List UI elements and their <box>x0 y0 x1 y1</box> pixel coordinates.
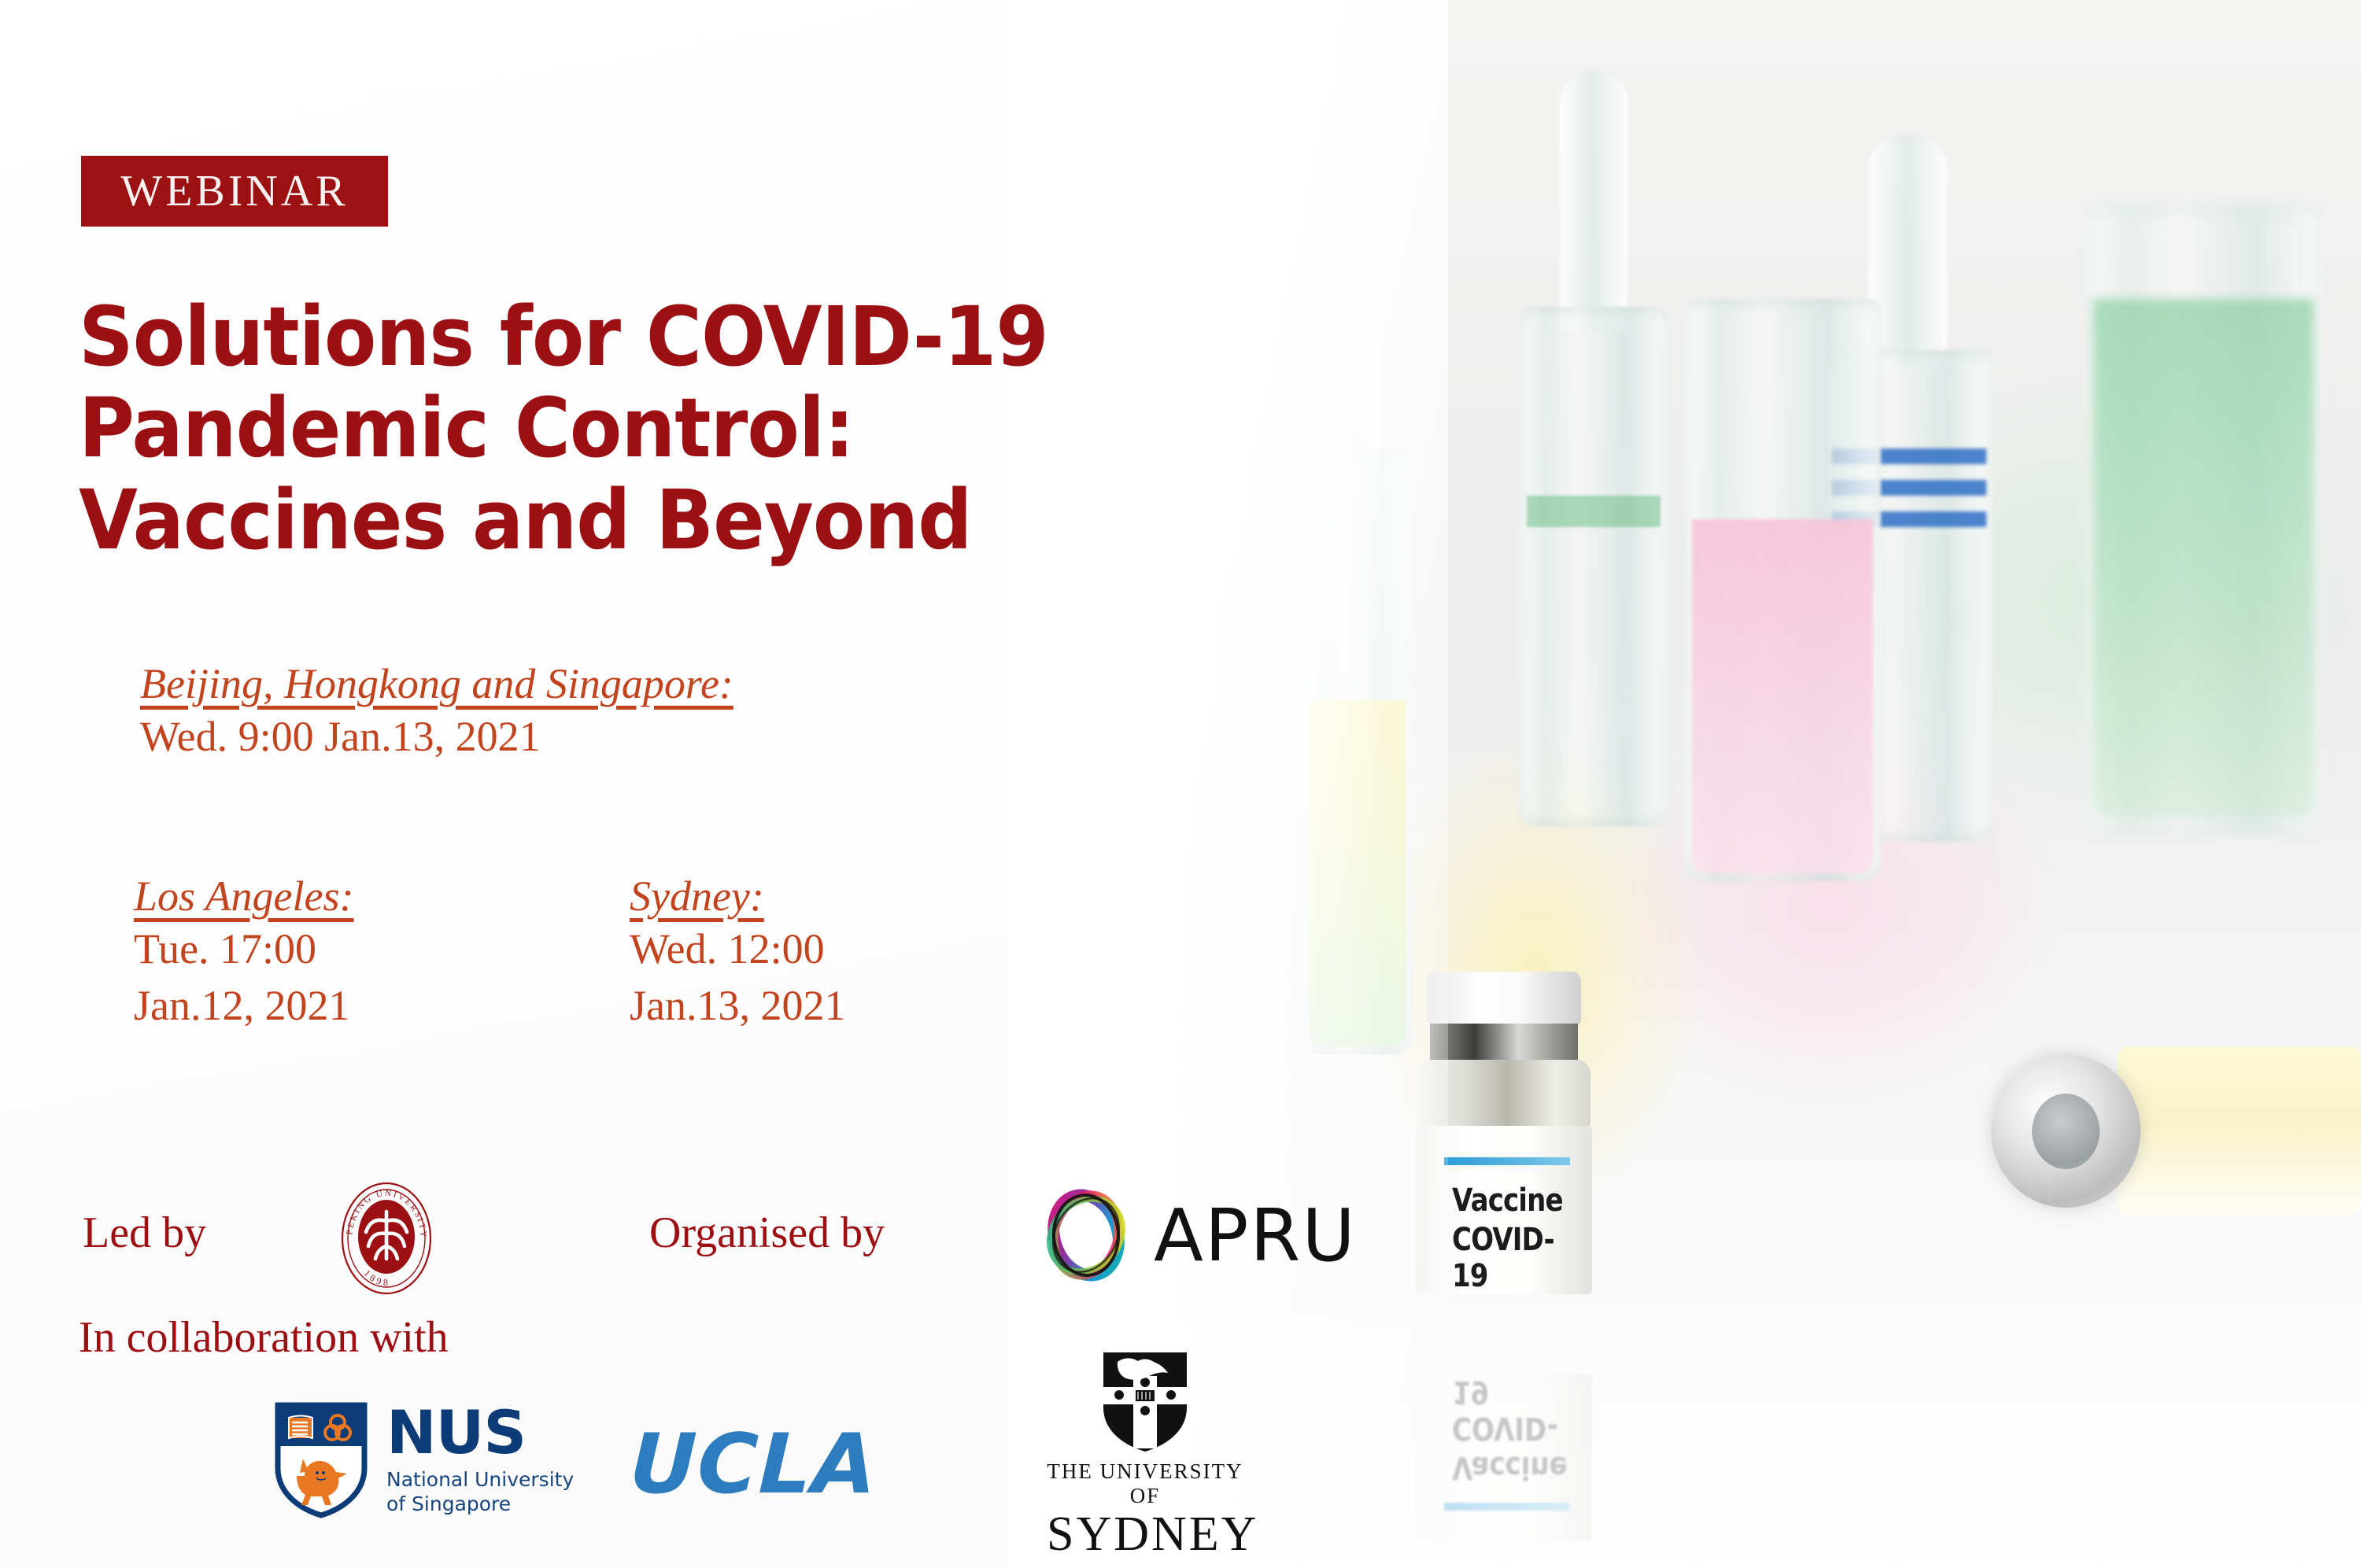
ampoule-tall-center <box>1511 71 1676 826</box>
vial-reflection-line1: Vaccine <box>1452 1449 1568 1485</box>
schedule-sydney: Sydney: Wed. 12:00 Jan.13, 2021 <box>630 872 845 1035</box>
page-title-line-1: Solutions for COVID-19 <box>79 291 1103 382</box>
schedule-beijing: Beijing, Hongkong and Singapore: Wed. 9:… <box>140 659 733 765</box>
schedule-sydney-region: Sydney: <box>630 872 845 921</box>
vial-pink-liquid <box>1684 299 1881 881</box>
vial-label-line2: COVID-19 <box>1452 1222 1571 1294</box>
nus-acronym: NUS <box>386 1403 574 1463</box>
vial-collar <box>1430 1024 1578 1064</box>
apru-ring-icon <box>1039 1188 1133 1282</box>
webinar-badge: WEBINAR <box>81 156 388 227</box>
apru-logo: APRU <box>1039 1188 1357 1282</box>
schedule-sydney-time: Wed. 12:00 <box>630 921 845 977</box>
page-title-line-3: Vaccines and Beyond <box>79 474 1103 566</box>
webinar-badge-label: WEBINAR <box>120 166 348 216</box>
nus-logo: NUS National University of Singapore <box>272 1400 574 1518</box>
vial-label-line1: Vaccine <box>1452 1182 1563 1219</box>
schedule-beijing-region: Beijing, Hongkong and Singapore: <box>140 659 733 708</box>
ucla-logo: UCLA <box>628 1416 879 1512</box>
schedule-sydney-date: Jan.13, 2021 <box>630 977 845 1034</box>
collaboration-label: In collaboration with <box>79 1312 449 1363</box>
schedule-beijing-time: Wed. 9:00 Jan.13, 2021 <box>140 708 733 765</box>
vial-lying-body <box>2117 1046 2361 1216</box>
schedule-los-angeles-region: Los Angeles: <box>134 872 354 921</box>
vial-cap <box>1427 972 1581 1028</box>
vial-label-blue-bar <box>1444 1157 1570 1165</box>
photo-fade-mask <box>1007 0 1448 1568</box>
sydney-name-line-1: THE UNIVERSITY OF <box>1047 1459 1243 1508</box>
led-by-label: Led by <box>83 1208 206 1258</box>
silver-crimp-cap-icon <box>1991 1054 2141 1208</box>
vial-reflection-line2: COVID-19 <box>1452 1374 1571 1446</box>
sydney-shield-icon <box>1099 1349 1192 1453</box>
nus-shield-icon <box>272 1400 371 1518</box>
page-title-line-2: Pandemic Control: <box>79 382 1103 474</box>
peking-university-logo: PEKING UNIVERSITY 1898 <box>334 1174 438 1303</box>
nus-name-line-2: of Singapore <box>386 1492 574 1516</box>
organised-by-label: Organised by <box>649 1208 885 1258</box>
schedule-los-angeles: Los Angeles: Tue. 17:00 Jan.12, 2021 <box>134 872 354 1035</box>
vial-green-liquid <box>2086 205 2322 834</box>
apru-wordmark: APRU <box>1154 1194 1357 1278</box>
schedule-los-angeles-time: Tue. 17:00 <box>134 921 354 977</box>
schedule-los-angeles-date: Jan.12, 2021 <box>134 977 354 1034</box>
university-of-sydney-logo: THE UNIVERSITY OF SYDNEY <box>1047 1349 1243 1559</box>
page-title: Solutions for COVID-19 Pandemic Control:… <box>79 291 1103 566</box>
nus-name-line-1: National University <box>386 1467 574 1492</box>
sydney-name-line-2: SYDNEY <box>1047 1510 1243 1559</box>
